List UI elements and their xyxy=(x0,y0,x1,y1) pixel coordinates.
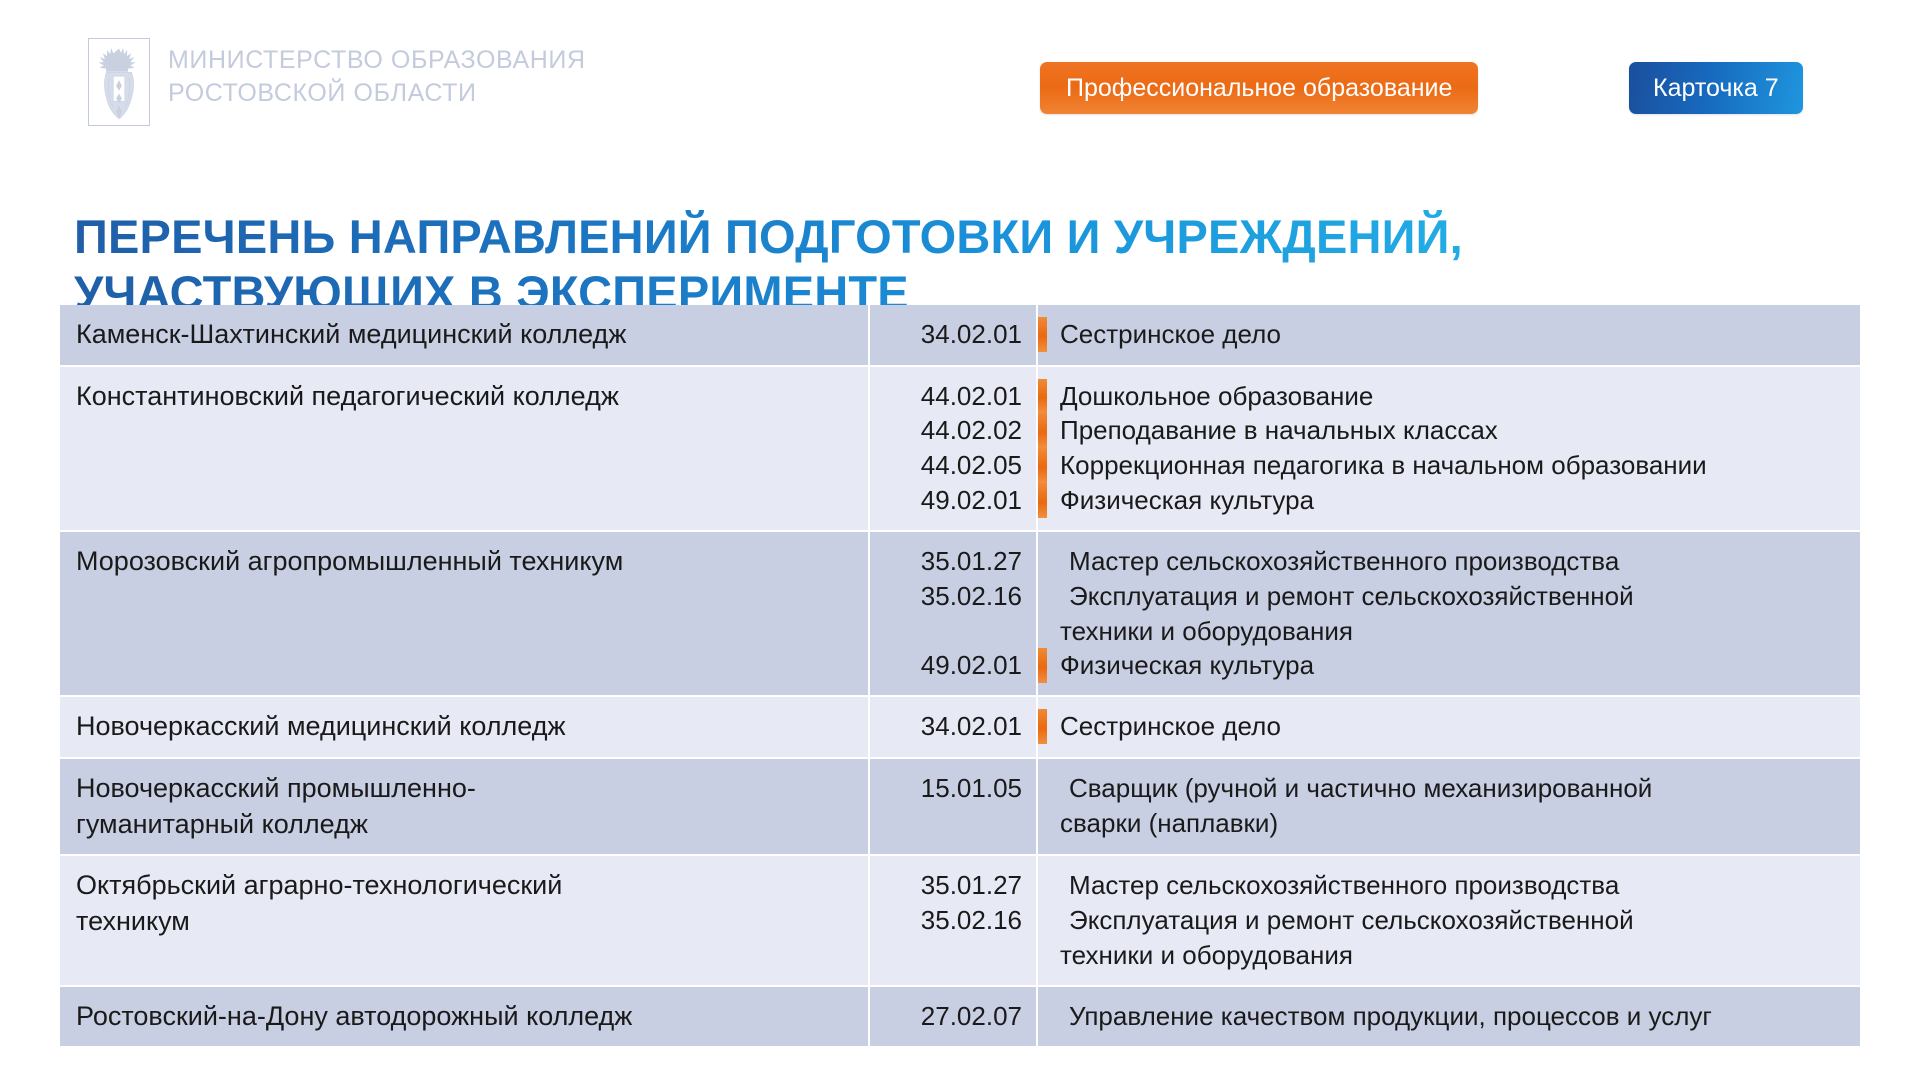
table-row: Ростовский-на-Дону автодорожный колледж2… xyxy=(60,987,1860,1049)
program-code: 35.01.27 xyxy=(921,868,1022,903)
program-code: 44.02.02 xyxy=(921,413,1022,448)
institution-name-cell: Каменск-Шахтинский медицинский колледж xyxy=(60,305,870,365)
program-codes-cell: 35.01.2735.02.16 49.02.01 xyxy=(870,532,1038,695)
program-code: 49.02.01 xyxy=(921,483,1022,518)
program-codes-cell: 44.02.0144.02.0244.02.0549.02.01 xyxy=(870,367,1038,530)
program-row: Эксплуатация и ремонт сельскохозяйственн… xyxy=(1038,903,1850,938)
program-names-cell: Управление качеством продукции, процессо… xyxy=(1038,987,1860,1047)
program-row: Дошкольное образование xyxy=(1038,379,1850,414)
institution-name: Октябрьский аграрно-технологический техн… xyxy=(76,868,562,939)
program-name: Дошкольное образование xyxy=(1047,379,1373,414)
program-name: Физическая культура xyxy=(1047,648,1314,683)
program-codes-cell: 34.02.01 xyxy=(870,697,1038,757)
program-name: Преподавание в начальных классах xyxy=(1047,413,1498,448)
accent-bar-icon xyxy=(1038,448,1047,483)
accent-bar-icon xyxy=(1038,413,1047,448)
institution-name-cell: Октябрьский аграрно-технологический техн… xyxy=(60,856,870,984)
program-name: Сестринское дело xyxy=(1047,317,1281,352)
table-row: Морозовский агропромышленный техникум35.… xyxy=(60,532,1860,697)
program-name-continuation: сварки (наплавки) xyxy=(1038,806,1850,841)
institution-name-cell: Новочеркасский промышленно- гуманитарный… xyxy=(60,759,870,854)
institution-name-cell: Константиновский педагогический колледж xyxy=(60,367,870,530)
program-codes-cell: 27.02.07 xyxy=(870,987,1038,1047)
program-name: Эксплуатация и ремонт сельскохозяйственн… xyxy=(1047,579,1634,614)
table-row: Новочеркасский промышленно- гуманитарный… xyxy=(60,759,1860,856)
program-row: Управление качеством продукции, процессо… xyxy=(1038,999,1850,1034)
program-code: 34.02.01 xyxy=(921,709,1022,744)
program-code: 35.02.16 xyxy=(921,903,1022,938)
accent-bar-icon xyxy=(1038,648,1047,683)
accent-bar-icon xyxy=(1038,709,1047,744)
programs-table: Каменск-Шахтинский медицинский колледж34… xyxy=(60,305,1860,1048)
institution-name: Новочеркасский медицинский колледж xyxy=(76,709,566,745)
program-codes-cell: 34.02.01 xyxy=(870,305,1038,365)
program-code-spacer xyxy=(1015,614,1022,649)
program-row: Преподавание в начальных классах xyxy=(1038,413,1850,448)
program-codes-cell: 15.01.05 xyxy=(870,759,1038,854)
program-code: 15.01.05 xyxy=(921,771,1022,806)
institution-name: Константиновский педагогический колледж xyxy=(76,379,619,415)
program-codes-cell: 35.01.2735.02.16 xyxy=(870,856,1038,984)
institution-name: Новочеркасский промышленно- гуманитарный… xyxy=(76,771,476,842)
ministry-branding: МИНИСТЕРСТВО ОБРАЗОВАНИЯ РОСТОВСКОЙ ОБЛА… xyxy=(88,38,586,126)
program-code: 27.02.07 xyxy=(921,999,1022,1034)
card-number-badge[interactable]: Карточка 7 xyxy=(1629,62,1803,114)
program-row: Мастер сельскохозяйственного производств… xyxy=(1038,544,1850,579)
program-names-cell: Сестринское дело xyxy=(1038,305,1860,365)
accent-bar-icon xyxy=(1038,771,1047,806)
program-names-cell: Мастер сельскохозяйственного производств… xyxy=(1038,532,1860,695)
program-name-continuation: техники и оборудования xyxy=(1038,938,1850,973)
accent-bar-icon xyxy=(1038,483,1047,518)
table-row: Каменск-Шахтинский медицинский колледж34… xyxy=(60,305,1860,367)
program-code-spacer xyxy=(1015,806,1022,841)
program-code-spacer xyxy=(1015,938,1022,973)
program-row: Мастер сельскохозяйственного производств… xyxy=(1038,868,1850,903)
institution-name: Ростовский-на-Дону автодорожный колледж xyxy=(76,999,632,1035)
table-row: Новочеркасский медицинский колледж34.02.… xyxy=(60,697,1860,759)
accent-bar-icon xyxy=(1038,379,1047,414)
program-name: Мастер сельскохозяйственного производств… xyxy=(1047,868,1619,903)
program-name-continuation: техники и оборудования xyxy=(1038,614,1850,649)
program-names-cell: Сестринское дело xyxy=(1038,697,1860,757)
accent-bar-icon xyxy=(1038,579,1047,614)
program-names-cell: Сварщик (ручной и частично механизирован… xyxy=(1038,759,1860,854)
accent-bar-icon xyxy=(1038,903,1047,938)
accent-bar-icon xyxy=(1038,317,1047,352)
accent-bar-icon xyxy=(1038,868,1047,903)
program-code: 34.02.01 xyxy=(921,317,1022,352)
program-name: Сестринское дело xyxy=(1047,709,1281,744)
table-row: Октябрьский аграрно-технологический техн… xyxy=(60,856,1860,986)
program-name: Коррекционная педагогика в начальном обр… xyxy=(1047,448,1707,483)
table-row: Константиновский педагогический колледж4… xyxy=(60,367,1860,532)
ministry-name: МИНИСТЕРСТВО ОБРАЗОВАНИЯ РОСТОВСКОЙ ОБЛА… xyxy=(168,38,586,110)
program-code: 35.02.16 xyxy=(921,579,1022,614)
accent-bar-icon xyxy=(1038,999,1047,1034)
program-row: Сестринское дело xyxy=(1038,317,1850,352)
program-code: 44.02.01 xyxy=(921,379,1022,414)
institution-name-cell: Ростовский-на-Дону автодорожный колледж xyxy=(60,987,870,1047)
program-row: Сестринское дело xyxy=(1038,709,1850,744)
program-name: Физическая культура xyxy=(1047,483,1314,518)
institution-name-cell: Морозовский агропромышленный техникум xyxy=(60,532,870,695)
program-code: 49.02.01 xyxy=(921,648,1022,683)
page-title: ПЕРЕЧЕНЬ НАПРАВЛЕНИЙ ПОДГОТОВКИ И УЧРЕЖД… xyxy=(74,209,1714,320)
program-row: Физическая культура xyxy=(1038,483,1850,518)
accent-bar-icon xyxy=(1038,544,1047,579)
program-row: Коррекционная педагогика в начальном обр… xyxy=(1038,448,1850,483)
coat-of-arms-icon xyxy=(88,38,150,126)
program-row: Эксплуатация и ремонт сельскохозяйственн… xyxy=(1038,579,1850,614)
institution-name: Каменск-Шахтинский медицинский колледж xyxy=(76,317,626,353)
program-names-cell: Дошкольное образованиеПреподавание в нач… xyxy=(1038,367,1860,530)
category-badge[interactable]: Профессиональное образование xyxy=(1040,62,1478,114)
program-row: Сварщик (ручной и частично механизирован… xyxy=(1038,771,1850,806)
program-name: Управление качеством продукции, процессо… xyxy=(1047,999,1712,1034)
institution-name-cell: Новочеркасский медицинский колледж xyxy=(60,697,870,757)
institution-name: Морозовский агропромышленный техникум xyxy=(76,544,623,580)
program-name: Эксплуатация и ремонт сельскохозяйственн… xyxy=(1047,903,1634,938)
program-name: Сварщик (ручной и частично механизирован… xyxy=(1047,771,1652,806)
program-names-cell: Мастер сельскохозяйственного производств… xyxy=(1038,856,1860,984)
program-code: 35.01.27 xyxy=(921,544,1022,579)
program-code: 44.02.05 xyxy=(921,448,1022,483)
program-name: Мастер сельскохозяйственного производств… xyxy=(1047,544,1619,579)
program-row: Физическая культура xyxy=(1038,648,1850,683)
page-header: МИНИСТЕРСТВО ОБРАЗОВАНИЯ РОСТОВСКОЙ ОБЛА… xyxy=(0,0,1920,160)
